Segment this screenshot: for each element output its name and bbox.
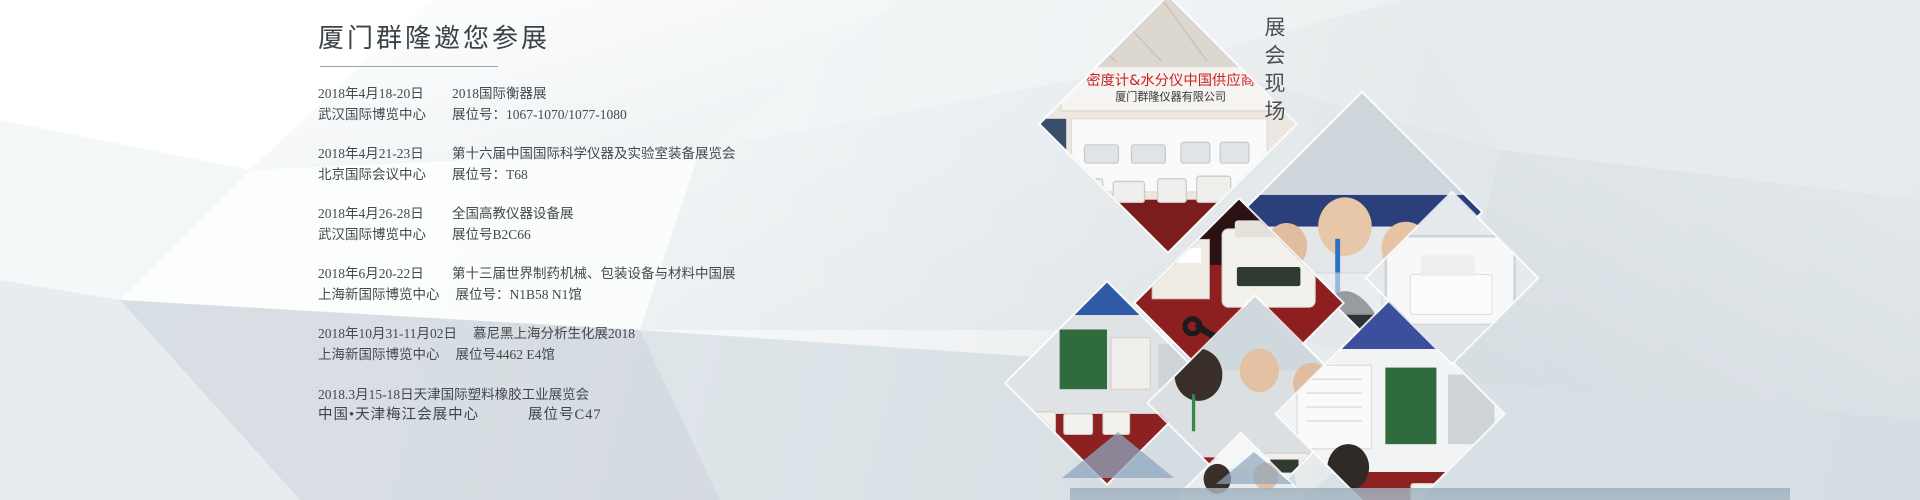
entry-venue: 上海新国际博览中心: [318, 344, 440, 365]
decor-bottom-bar: [1070, 488, 1790, 500]
entry-venue: 武汉国际博览中心: [318, 104, 436, 125]
entry-name: 第十三届世界制药机械、包装设备与材料中国展: [436, 263, 736, 284]
schedule-entry: 2018年4月21-23日第十六届中国国际科学仪器及实验室装备展览会 北京国际会…: [318, 143, 958, 185]
entry-name: 第十六届中国国际科学仪器及实验室装备展览会: [436, 143, 736, 164]
photo-collage: 密度计&水分仪中国供应商 厦门群隆仪器有限公司: [1020, 0, 1920, 500]
entry-booth: 展位号C47: [528, 403, 602, 424]
entry-booth: 展位号：T68: [436, 164, 528, 185]
schedule-entry: 2018年6月20-22日第十三届世界制药机械、包装设备与材料中国展 上海新国际…: [318, 263, 958, 305]
entry-date: 2018年10月31-11月02日: [318, 323, 457, 344]
entry-venue: 上海新国际博览中心: [318, 284, 440, 305]
entry-booth: 展位号：1067-1070/1077-1080: [436, 104, 627, 125]
decor-triangle-right: [1216, 452, 1292, 484]
entry-venue: 北京国际会议中心: [318, 164, 436, 185]
schedule-entry-last: 2018.3月15-18日天津国际塑料橡胶工业展览会 中国•天津梅江会展中心 展…: [318, 383, 958, 424]
title-divider: [320, 66, 498, 67]
page-title: 厦门群隆邀您参展: [318, 22, 958, 62]
entry-booth: 展位号4462 E4馆: [440, 344, 555, 365]
exhibition-schedule: 厦门群隆邀您参展 2018年4月18-20日2018国际衡器展 武汉国际博览中心…: [318, 22, 958, 442]
entry-booth: 展位号B2C66: [436, 224, 531, 245]
schedule-entry: 2018年4月18-20日2018国际衡器展 武汉国际博览中心展位号：1067-…: [318, 83, 958, 125]
entry-name: 2018国际衡器展: [436, 83, 547, 104]
entry-venue: 武汉国际博览中心: [318, 224, 436, 245]
collage-vertical-caption: 展会现场: [1243, 16, 1289, 128]
entry-name: 慕尼黑上海分析生化展2018: [457, 323, 635, 344]
entry-venue: 中国•天津梅江会展中心: [318, 403, 528, 424]
svg-text:厦门群隆仪器有限公司: 厦门群隆仪器有限公司: [1115, 90, 1226, 104]
entry-name: 全国高教仪器设备展: [436, 203, 574, 224]
entry-date: 2018年4月21-23日: [318, 143, 436, 164]
banner-stage: 厦门群隆邀您参展 2018年4月18-20日2018国际衡器展 武汉国际博览中心…: [0, 0, 1920, 500]
svg-text:BOSHI: BOSHI: [1035, 294, 1067, 306]
entry-date: 2018年6月20-22日: [318, 263, 436, 284]
entry-headline: 2018.3月15-18日天津国际塑料橡胶工业展览会: [318, 383, 958, 403]
entry-date: 2018年4月26-28日: [318, 203, 436, 224]
decor-triangle-left: [1062, 432, 1174, 478]
entry-date: 2018年4月18-20日: [318, 83, 436, 104]
svg-text:密度计&水分仪中国供应商: 密度计&水分仪中国供应商: [1086, 71, 1255, 89]
entry-booth: 展位号：N1B58 N1馆: [440, 284, 582, 305]
schedule-entry: 2018年10月31-11月02日慕尼黑上海分析生化展2018 上海新国际博览中…: [318, 323, 958, 365]
schedule-entry: 2018年4月26-28日全国高教仪器设备展 武汉国际博览中心展位号B2C66: [318, 203, 958, 245]
